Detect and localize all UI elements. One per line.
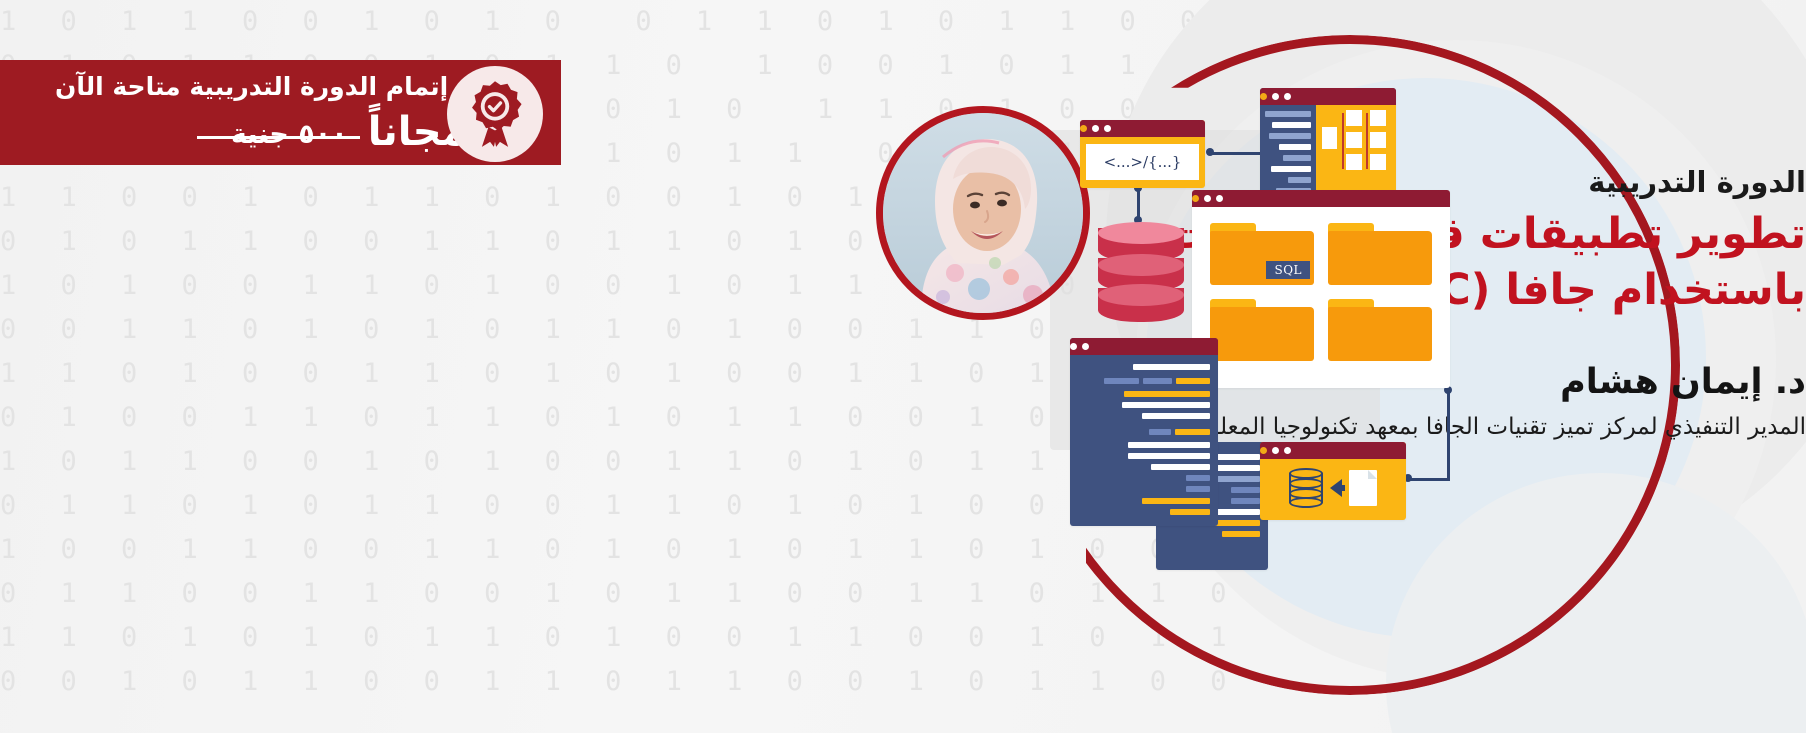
course-illustration: {...}/<...> bbox=[1060, 70, 1480, 540]
code-snippet-window: {...}/<...> bbox=[1080, 120, 1205, 188]
document-icon bbox=[1349, 470, 1377, 506]
promo-banner-stage: 1 0 1 1 0 0 1 0 1 0 0 1 1 0 1 0 1 1 0 0 … bbox=[0, 0, 1806, 733]
diagram-link bbox=[1366, 113, 1368, 169]
window-titlebar bbox=[1080, 120, 1205, 137]
window-titlebar bbox=[1070, 338, 1218, 355]
sql-badge: SQL bbox=[1266, 261, 1310, 279]
document-to-database-icon bbox=[1260, 459, 1406, 517]
diagram-node bbox=[1370, 154, 1386, 170]
window-dot bbox=[1070, 343, 1077, 350]
schema-diagram-window bbox=[1260, 88, 1396, 200]
window-dot bbox=[1284, 447, 1291, 454]
window-dot bbox=[1284, 93, 1291, 100]
window-dot bbox=[1080, 125, 1087, 132]
window-dot bbox=[1272, 447, 1279, 454]
data-import-window bbox=[1260, 442, 1406, 520]
window-dot bbox=[1104, 125, 1111, 132]
window-titlebar bbox=[1260, 88, 1396, 105]
window-dot bbox=[1204, 195, 1211, 202]
connector-node bbox=[1206, 148, 1214, 156]
window-titlebar bbox=[1192, 190, 1450, 207]
database-outline-icon bbox=[1289, 468, 1323, 508]
code-editor-window bbox=[1070, 338, 1218, 526]
presenter-block: د. إيمان هشام المدير التنفيذي لمركز تميز… bbox=[0, 358, 1806, 446]
diagram-canvas bbox=[1316, 105, 1396, 200]
window-dot bbox=[1260, 93, 1267, 100]
window-dot bbox=[1272, 93, 1279, 100]
window-dot bbox=[1192, 195, 1199, 202]
arrow-right-icon bbox=[1330, 479, 1342, 497]
folder-grid: SQL bbox=[1192, 207, 1450, 377]
database-cylinder-icon bbox=[1098, 222, 1184, 326]
diagram-node bbox=[1322, 127, 1337, 149]
code-snippet-text: {...}/<...> bbox=[1086, 144, 1199, 180]
window-titlebar bbox=[1260, 442, 1406, 459]
diagram-node bbox=[1370, 132, 1386, 148]
folders-window: SQL bbox=[1192, 190, 1450, 388]
connector-line bbox=[1406, 478, 1450, 481]
window-dot bbox=[1216, 195, 1223, 202]
diagram-body bbox=[1260, 105, 1396, 200]
folder-icon bbox=[1328, 223, 1432, 285]
diagram-node bbox=[1370, 110, 1386, 126]
diagram-sidebar bbox=[1260, 105, 1316, 200]
window-dot bbox=[1092, 125, 1099, 132]
code-editor-lines bbox=[1070, 355, 1218, 526]
folder-icon bbox=[1210, 299, 1314, 361]
window-dot bbox=[1082, 343, 1089, 350]
diagram-node bbox=[1346, 154, 1362, 170]
award-medal-check-icon bbox=[447, 66, 543, 162]
connector-line bbox=[1447, 390, 1450, 480]
diagram-link bbox=[1342, 113, 1344, 169]
window-dot bbox=[1260, 447, 1267, 454]
diagram-node bbox=[1346, 132, 1362, 148]
original-price-strikethrough: ٥٠٠ جنية bbox=[225, 118, 354, 152]
folder-icon bbox=[1328, 299, 1432, 361]
avatar bbox=[876, 106, 1090, 320]
folder-icon-sql: SQL bbox=[1210, 223, 1314, 285]
diagram-node bbox=[1346, 110, 1362, 126]
